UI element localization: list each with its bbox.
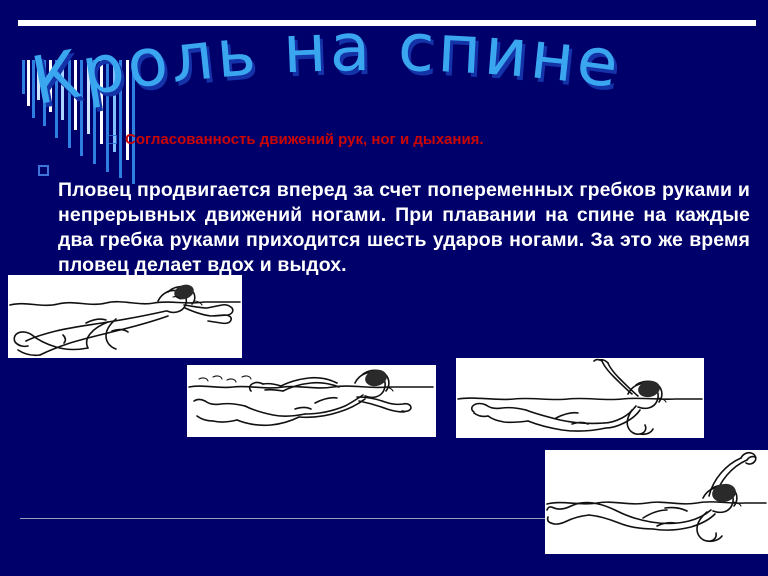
body-bullet-row: Пловец продвигается вперед за счет попер… xyxy=(38,158,750,297)
bottom-rule xyxy=(20,518,545,519)
top-rule xyxy=(18,20,756,26)
slide-title: Кроль на спине Кроль на спине xyxy=(0,14,768,124)
figure-3-backstroke-recovery-vertical xyxy=(456,358,704,438)
figure-2-backstroke-pull-finish xyxy=(187,365,436,437)
figure-4-backstroke-entry xyxy=(545,450,768,554)
slide-title-shadow: Кроль на спине xyxy=(29,13,629,124)
square-outline-bullet-icon xyxy=(108,135,117,144)
body-text: Пловец продвигается вперед за счет попер… xyxy=(58,178,750,278)
slide: Кроль на спине Кроль на спине Согласован… xyxy=(0,0,768,576)
heading-bullet-row: Согласованность движений рук, ног и дыха… xyxy=(108,131,728,148)
wordart-smear-decoration xyxy=(22,24,152,144)
heading-text: Согласованность движений рук, ног и дыха… xyxy=(125,131,484,148)
square-outline-bullet-icon xyxy=(38,165,49,176)
